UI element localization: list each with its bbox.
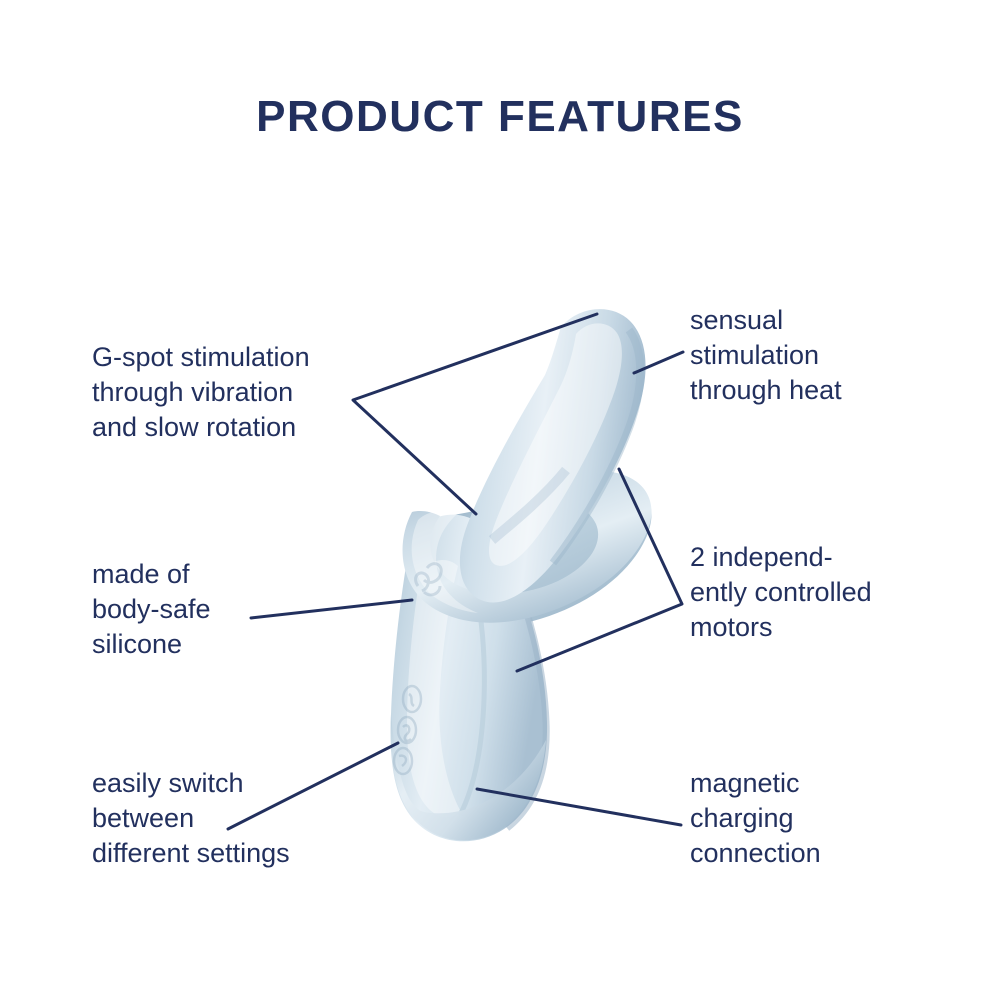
leader-line-magnetic <box>477 789 681 825</box>
callout-gspot: G-spot stimulation through vibration and… <box>92 340 382 445</box>
leader-line-gspot <box>353 314 597 514</box>
product-features-infographic: PRODUCT FEATURES <box>0 0 1000 1000</box>
callout-sensual: sensual stimulation through heat <box>690 303 940 408</box>
callout-motors: 2 independ- ently controlled motors <box>690 540 940 645</box>
callout-silicone: made of body-safe silicone <box>92 557 332 662</box>
leader-line-motors <box>517 469 682 671</box>
callout-switch: easily switch between different settings <box>92 766 372 871</box>
leader-line-sensual <box>634 352 683 373</box>
callout-magnetic: magnetic charging connection <box>690 766 940 871</box>
